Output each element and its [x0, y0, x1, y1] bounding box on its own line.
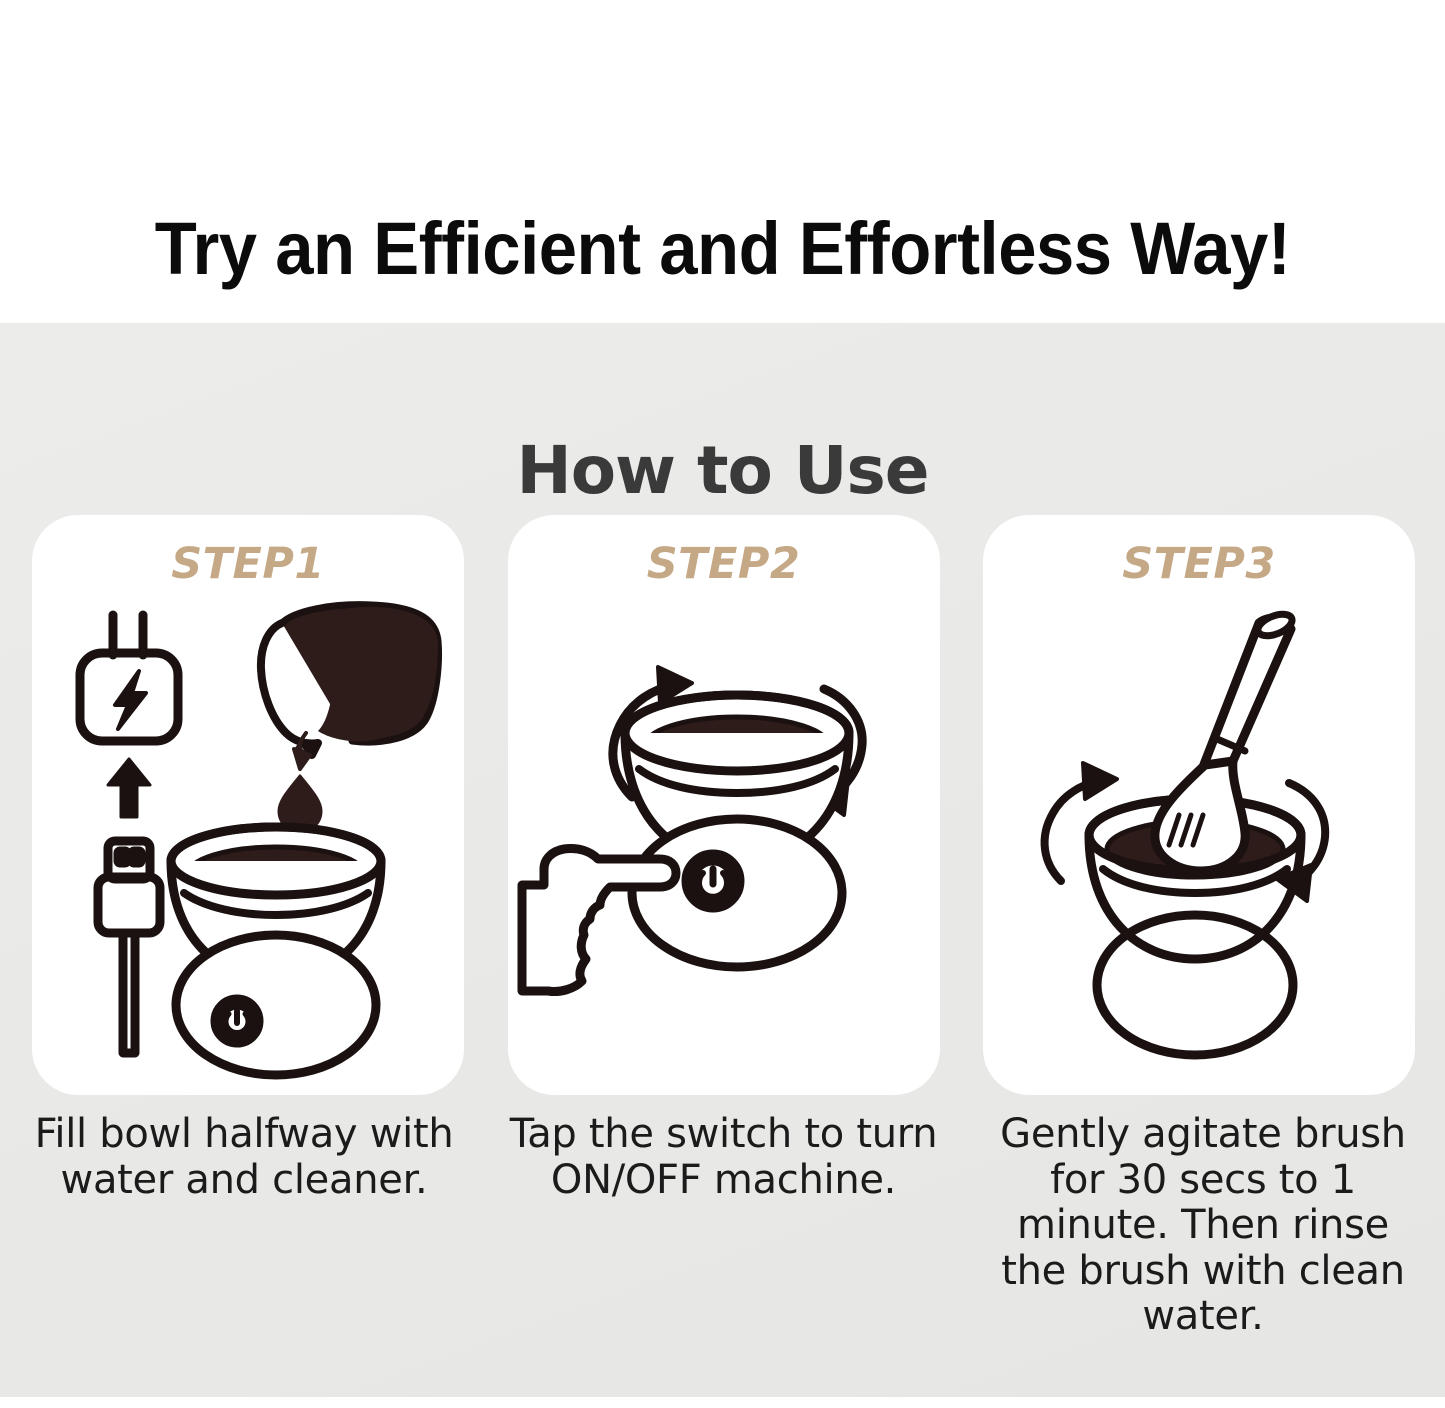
- infographic-page: Try an Efficient and Effortless Way! How…: [0, 0, 1445, 1408]
- power-adapter-icon: [80, 615, 178, 741]
- step-label-3: STEP3: [983, 539, 1415, 589]
- page-title: Try an Efficient and Effortless Way!: [51, 210, 1395, 288]
- step-card-2: STEP2: [508, 515, 940, 1095]
- step-1-illustration: [32, 593, 464, 1093]
- step-3-illustration: [983, 593, 1415, 1093]
- step-2-illustration: [508, 593, 940, 1093]
- steps-container: STEP1: [32, 515, 1415, 1095]
- step-label-2: STEP2: [508, 539, 940, 589]
- power-button-icon: [215, 999, 259, 1043]
- pouring-pitcher-icon: [261, 605, 439, 769]
- step-card-3: STEP3: [983, 515, 1415, 1095]
- usb-cable-icon: [98, 841, 160, 1053]
- captions-container: Fill bowl halfway with water and cleaner…: [32, 1112, 1415, 1340]
- step-card-1: STEP1: [32, 515, 464, 1095]
- up-arrow-icon: [108, 759, 150, 817]
- step-caption-2: Tap the switch to turn ON/OFF machine.: [504, 1112, 944, 1340]
- step-label-1: STEP1: [32, 539, 464, 589]
- panel-title: How to Use: [0, 438, 1445, 504]
- device-base: [1097, 915, 1293, 1055]
- step-caption-3: Gently agitate brush for 30 secs to 1 mi…: [983, 1112, 1423, 1340]
- step-caption-1: Fill bowl halfway with water and cleaner…: [24, 1112, 464, 1340]
- device-base: [176, 935, 376, 1075]
- power-button-icon: [686, 854, 740, 908]
- lightning-bolt-icon: [115, 671, 146, 729]
